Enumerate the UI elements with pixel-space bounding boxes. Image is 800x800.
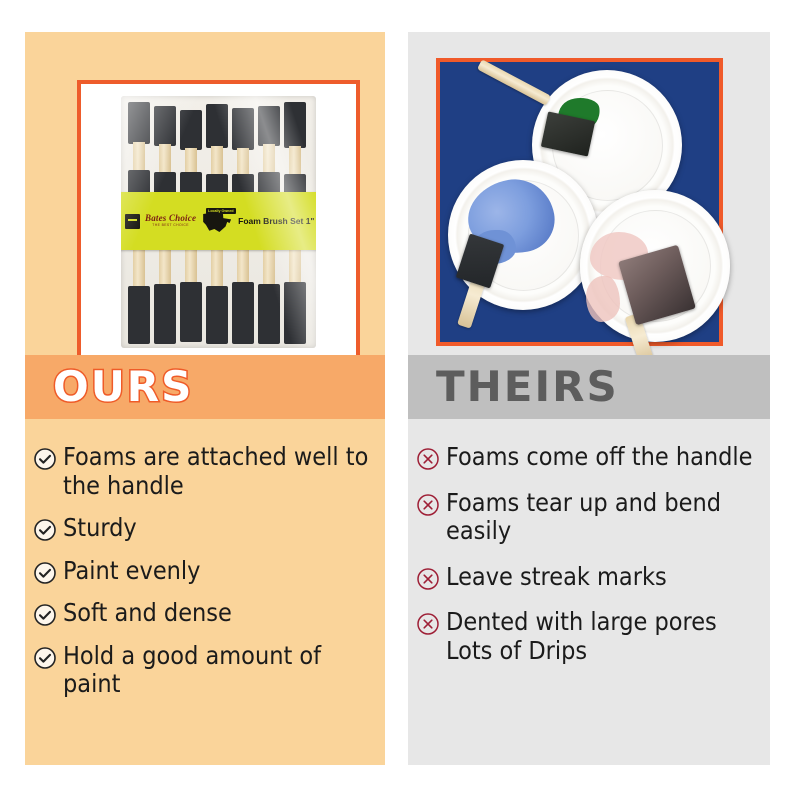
louisiana-shape-icon [203,211,231,232]
bates-choice-logo-icon [125,214,140,229]
cross-circle-icon [416,567,440,591]
list-item: Sturdy [33,514,371,543]
cross-circle-icon [416,493,440,517]
check-circle-icon [33,518,57,542]
pink-paint-blob [586,276,620,322]
comparison-infographic: Bates Choice THE BEST CHOICE Locally Own… [0,0,800,800]
list-item: Foams are attached well to the handle [33,443,371,500]
list-item-label: Foams are attached well to the handle [63,443,371,500]
list-item: Foams tear up and bend easily [416,489,756,546]
list-item: Paint evenly [33,557,371,586]
panel-theirs: THEIRS Foams come off the handle [408,32,770,765]
theirs-title: THEIRS [436,366,619,408]
product-title: Foam Brush Set 1" [238,216,314,226]
ours-benefit-list: Foams are attached well to the handle St… [25,427,385,713]
package-label: Bates Choice THE BEST CHOICE Locally Own… [121,192,316,250]
ours-title: OURS [53,366,193,408]
list-item-label: Leave streak marks [446,563,667,592]
foam-brush-package: Bates Choice THE BEST CHOICE Locally Own… [121,96,316,348]
list-item: Dented with large pores Lots of Drips [416,608,756,665]
check-circle-icon [33,447,57,471]
check-circle-icon [33,646,57,670]
list-item: Leave streak marks [416,563,756,592]
list-item-label: Hold a good amount of paint [63,642,371,699]
cross-circle-icon [416,447,440,471]
cross-circle-icon [416,612,440,636]
theirs-header-band: THEIRS [408,355,770,419]
check-circle-icon [33,603,57,627]
list-item-label: Dented with large pores Lots of Drips [446,608,756,665]
ours-product-photo: Bates Choice THE BEST CHOICE Locally Own… [77,80,360,364]
brand-name: Bates Choice [145,214,196,223]
locally-owned-text: Locally Owned [206,208,235,214]
list-item: Foams come off the handle [416,443,756,472]
list-item-label: Sturdy [63,514,137,543]
panel-ours: Bates Choice THE BEST CHOICE Locally Own… [25,32,385,765]
list-item-label: Foams come off the handle [446,443,753,472]
locally-owned-badge: Locally Owned [201,208,235,234]
list-item: Hold a good amount of paint [33,642,371,699]
brush-handle [477,59,551,105]
list-item-label: Foams tear up and bend easily [446,489,756,546]
brand-tagline: THE BEST CHOICE [145,223,196,228]
list-item: Soft and dense [33,599,371,628]
theirs-product-photo [436,58,723,346]
list-item-label: Paint evenly [63,557,201,586]
theirs-drawback-list: Foams come off the handle Foams tear up … [408,427,770,682]
check-circle-icon [33,561,57,585]
ours-header-band: OURS [25,355,385,419]
list-item-label: Soft and dense [63,599,232,628]
